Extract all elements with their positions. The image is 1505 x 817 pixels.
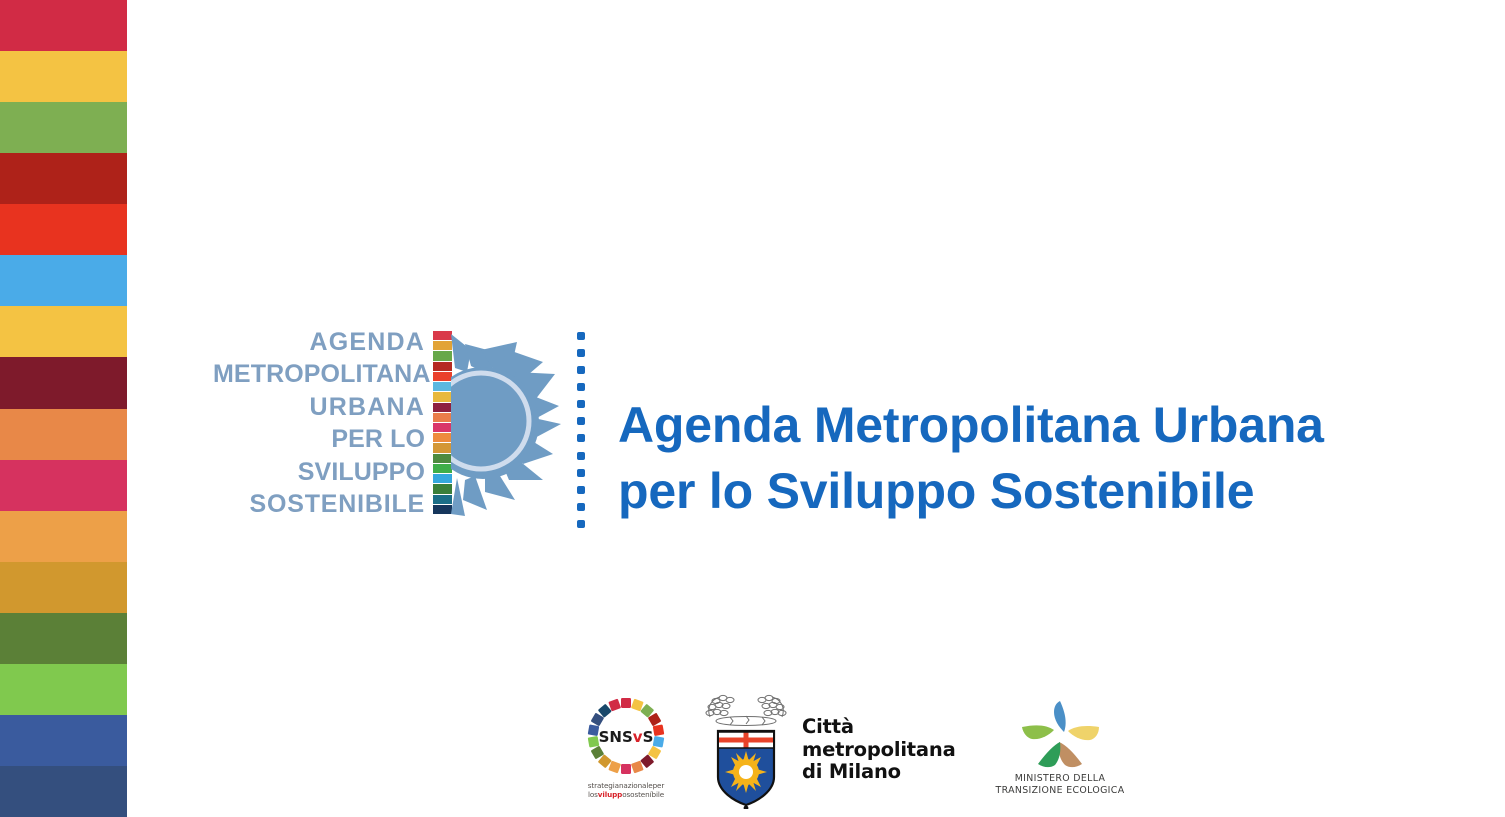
agenda-logo-sun-icon <box>451 328 563 518</box>
divider-dot-9 <box>577 469 585 477</box>
sdg-stripe-band-11 <box>0 511 127 562</box>
citta-line-3: di Milano <box>802 761 956 784</box>
ministero-caption: MINISTERO DELLA TRANSIZIONE ECOLOGICA <box>980 773 1140 797</box>
citta-line-1: Città <box>802 716 956 739</box>
divider-dot-3 <box>577 366 585 374</box>
snsvs-wheel-tile-10 <box>621 764 631 774</box>
sdg-stripe-band-12 <box>0 562 127 613</box>
sdg-stripe-band-7 <box>0 306 127 357</box>
agenda-logo-chip-3 <box>433 351 452 361</box>
agenda-logo-chip-14 <box>433 464 452 474</box>
sdg-stripe-band-6 <box>0 255 127 306</box>
snsvs-acronym: SNSvS <box>599 728 654 746</box>
agenda-logo-chip-16 <box>433 484 452 494</box>
agenda-metropolitana-logo: AGENDA METROPOLITANA URBANA PER LO SVILU… <box>213 327 563 519</box>
divider-dot-8 <box>577 452 585 460</box>
ministero-caption-line-2: TRANSIZIONE ECOLOGICA <box>980 785 1140 797</box>
agenda-logo-chip-8 <box>433 403 452 413</box>
agenda-logo-chip-1 <box>433 331 452 341</box>
sdg-stripe-band-14 <box>0 664 127 715</box>
snsvs-wheel-tile-6 <box>653 736 665 748</box>
snsvs-wheel-tile-1 <box>621 698 631 708</box>
sdg-stripe-band-4 <box>0 153 127 204</box>
snsvs-wheel-tile-15 <box>588 724 600 736</box>
sdg-stripe-band-5 <box>0 204 127 255</box>
sdg-stripe-band-13 <box>0 613 127 664</box>
presentation-slide: AGENDA METROPOLITANA URBANA PER LO SVILU… <box>0 0 1505 817</box>
divider-dot-2 <box>577 349 585 357</box>
snsvs-caption-line-2: losviluppososteníbile <box>570 790 682 799</box>
agenda-logo-chip-12 <box>433 443 452 453</box>
divider-dot-12 <box>577 520 585 528</box>
sdg-color-stripe <box>0 0 127 817</box>
snsvs-wheel-tile-14 <box>588 736 600 748</box>
agenda-logo-line-4: PER LO SVILUPPO <box>213 423 425 488</box>
divider-dot-6 <box>577 417 585 425</box>
agenda-logo-wordmark: AGENDA METROPOLITANA URBANA PER LO SVILU… <box>213 326 431 521</box>
citta-metropolitana-wordmark: Città metropolitana di Milano <box>802 716 956 784</box>
snsvs-caption-highlight: vilupp <box>598 790 622 799</box>
snsvs-caption-pre: los <box>588 790 598 799</box>
agenda-logo-chip-2 <box>433 341 452 351</box>
sdg-stripe-band-8 <box>0 357 127 408</box>
sdg-stripe-band-1 <box>0 0 127 51</box>
divider-dot-4 <box>577 383 585 391</box>
page-title-line-2: per lo Sviluppo Sostenibile <box>618 458 1458 524</box>
page-title-line-1: Agenda Metropolitana Urbana <box>618 392 1458 458</box>
agenda-logo-line-3: URBANA <box>213 391 425 424</box>
agenda-logo-chip-7 <box>433 392 452 402</box>
agenda-logo-chip-11 <box>433 433 452 443</box>
ministero-pinwheel-star-icon <box>1014 698 1106 770</box>
agenda-logo-chip-15 <box>433 474 452 484</box>
footer-partner-logos: SNSvS strategianazionaleper losvilupposo… <box>560 688 1140 812</box>
ministero-caption-line-1: MINISTERO DELLA <box>980 773 1140 785</box>
page-title: Agenda Metropolitana Urbana per lo Svilu… <box>618 392 1458 524</box>
ministero-transizione-ecologica-logo: MINISTERO DELLA TRANSIZIONE ECOLOGICA <box>980 698 1140 808</box>
agenda-logo-line-2: METROPOLITANA <box>213 358 425 391</box>
citta-metropolitana-logo: Città metropolitana di Milano <box>700 690 960 810</box>
sdg-stripe-band-9 <box>0 409 127 460</box>
agenda-logo-chip-13 <box>433 454 452 464</box>
snsvs-sdg-wheel-icon: SNSvS <box>578 696 674 780</box>
sdg-stripe-band-2 <box>0 51 127 102</box>
agenda-logo-chip-18 <box>433 505 452 515</box>
divider-dot-1 <box>577 332 585 340</box>
snsvs-caption-line-1: strategianazionaleper <box>570 781 682 790</box>
agenda-logo-chip-10 <box>433 423 452 433</box>
snsvs-wheel-tile-5 <box>653 724 665 736</box>
agenda-logo-chip-5 <box>433 372 452 382</box>
agenda-logo-line-5: SOSTENIBILE <box>213 488 425 521</box>
citta-metropolitana-crest-icon <box>700 691 792 809</box>
agenda-logo-sdg-chips <box>433 331 452 515</box>
dotted-vertical-divider <box>576 332 586 528</box>
agenda-logo-chip-17 <box>433 495 452 505</box>
sdg-stripe-band-15 <box>0 715 127 766</box>
divider-dot-10 <box>577 486 585 494</box>
divider-dot-5 <box>577 400 585 408</box>
sdg-stripe-band-16 <box>0 766 127 817</box>
sdg-stripe-band-10 <box>0 460 127 511</box>
divider-dot-11 <box>577 503 585 511</box>
snsvs-logo: SNSvS strategianazionaleper losvilupposo… <box>570 696 682 808</box>
snsvs-caption-post: ososteníbile <box>622 790 664 799</box>
agenda-logo-chip-4 <box>433 362 452 372</box>
agenda-logo-line-1: AGENDA <box>213 326 425 359</box>
agenda-logo-chip-6 <box>433 382 452 392</box>
citta-line-2: metropolitana <box>802 739 956 762</box>
agenda-logo-chip-9 <box>433 413 452 423</box>
divider-dot-7 <box>577 434 585 442</box>
sdg-stripe-band-3 <box>0 102 127 153</box>
snsvs-caption: strategianazionaleper losviluppososteníb… <box>570 781 682 799</box>
